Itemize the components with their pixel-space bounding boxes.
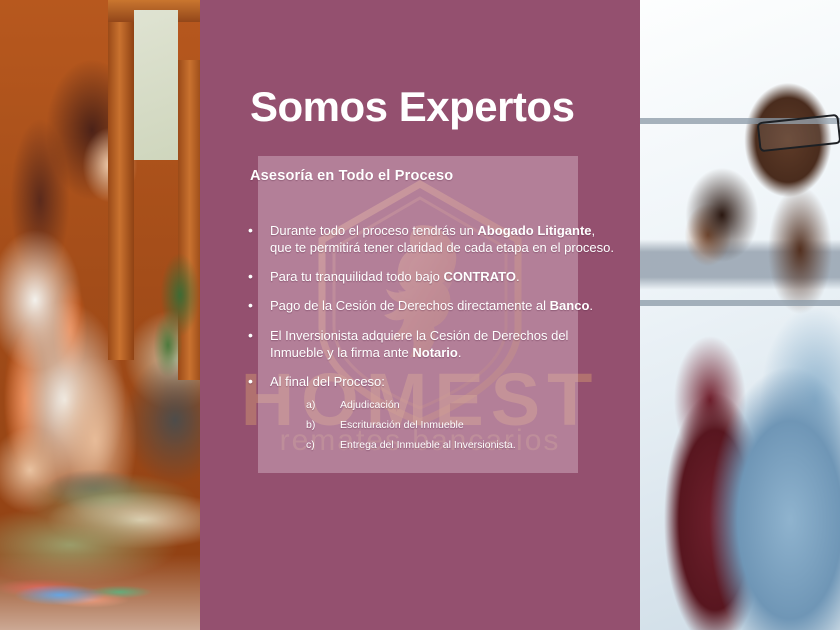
bullet-emphasis: CONTRATO — [443, 269, 515, 284]
bullet-item: Durante todo el proceso tendrás un Aboga… — [244, 222, 616, 256]
bullet-item: Para tu tranquilidad todo bajo CONTRATO. — [244, 268, 616, 285]
bullet-text: Durante todo el proceso tendrás un Aboga… — [270, 223, 614, 255]
bullet-text: Para tu tranquilidad todo bajo CONTRATO. — [270, 269, 520, 284]
bullet-text: Pago de la Cesión de Derechos directamen… — [270, 298, 593, 313]
photo-right-window-mullion-bottom — [640, 300, 840, 306]
sub-item: a)Adjudicación — [270, 396, 616, 416]
sub-item-label: Escrituración del Inmueble — [340, 416, 464, 436]
page-title: Somos Expertos — [250, 85, 630, 129]
photo-woman-designer — [0, 0, 200, 630]
sub-item-label: Adjudicación — [340, 396, 400, 416]
sub-item: c)Entrega del Inmueble al Inversionista. — [270, 436, 616, 456]
photo-left-window-frame-vertical — [108, 0, 134, 360]
photo-right-scene — [640, 0, 840, 630]
bullet-text: Al final del Proceso: — [270, 374, 385, 389]
sub-item-list: a)Adjudicaciónb)Escrituración del Inmueb… — [270, 396, 616, 456]
photo-left-window-glass — [134, 10, 178, 160]
bullet-item: Al final del Proceso:a)Adjudicaciónb)Esc… — [244, 373, 616, 456]
bullet-emphasis: Abogado Litigante — [477, 223, 591, 238]
bullet-emphasis: Banco — [550, 298, 590, 313]
section-subtitle: Asesoría en Todo el Proceso — [250, 168, 610, 184]
bullet-emphasis: Notario — [412, 345, 458, 360]
sub-item: b)Escrituración del Inmueble — [270, 416, 616, 436]
sub-item-label: Entrega del Inmueble al Inversionista. — [340, 436, 516, 456]
sub-item-marker: c) — [306, 436, 340, 456]
photo-couple-window — [640, 0, 840, 630]
bullet-item: Pago de la Cesión de Derechos directamen… — [244, 297, 616, 314]
bullet-list: Durante todo el proceso tendrás un Aboga… — [244, 222, 616, 468]
bullet-text: El Inversionista adquiere la Cesión de D… — [270, 328, 568, 360]
sub-item-marker: a) — [306, 396, 340, 416]
bullet-item: El Inversionista adquiere la Cesión de D… — [244, 327, 616, 361]
slide: HOMEST remates bancarios Somos Expertos … — [0, 0, 840, 630]
photo-left-plant — [150, 235, 200, 395]
sub-item-marker: b) — [306, 416, 340, 436]
